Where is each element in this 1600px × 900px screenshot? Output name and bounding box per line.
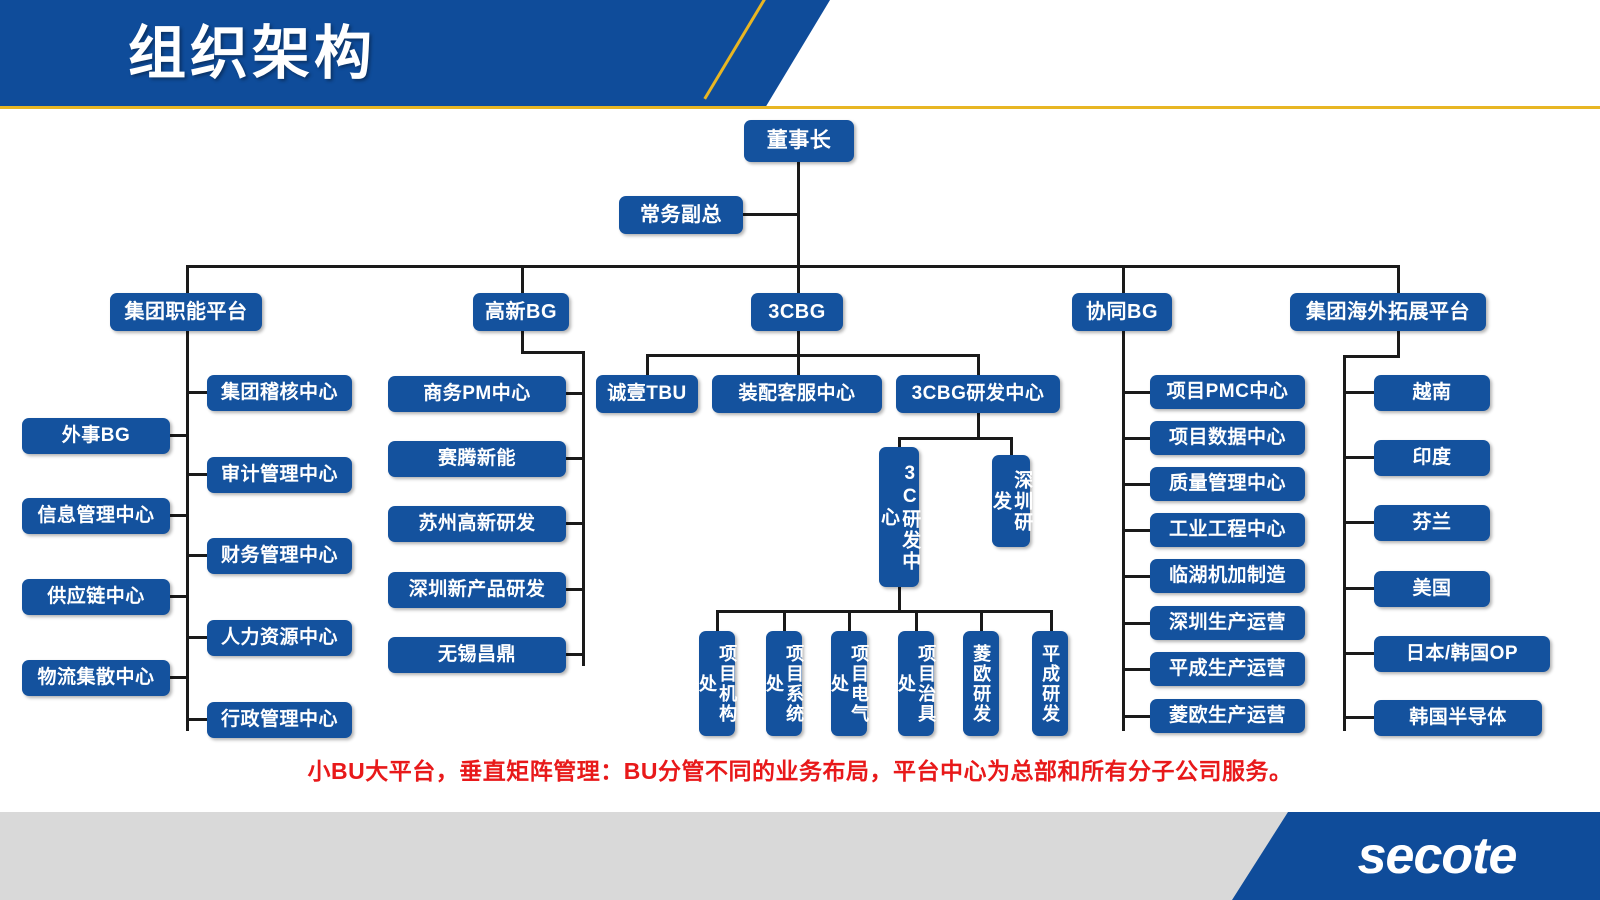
connector-b5-4 (1343, 587, 1377, 590)
node-project-pmc-center[interactable]: 项目PMC中心 (1150, 375, 1305, 409)
node-shenzhen-rd[interactable]: 深圳研发 (992, 455, 1030, 547)
footnote-caption: 小BU大平台，垂直矩阵管理：BU分管不同的业务布局，平台中心为总部和所有分子公司… (0, 752, 1600, 786)
node-group-audit-inspection-center[interactable]: 集团稽核中心 (207, 375, 352, 411)
connector-b3leaf-bus (716, 610, 1053, 613)
node-project-mechanism-dept[interactable]: 项目机构处 (699, 631, 735, 736)
connector-b3leaf-drop (898, 587, 901, 612)
node-japan-korea-op[interactable]: 日本/韩国OP (1374, 636, 1550, 672)
connector-b4-1 (1122, 391, 1152, 394)
node-chairman[interactable]: 董事长 (744, 120, 854, 162)
node-audit-management-center[interactable]: 审计管理中心 (207, 457, 352, 493)
node-project-data-center[interactable]: 项目数据中心 (1150, 421, 1305, 455)
node-wuxi-changding[interactable]: 无锡昌鼎 (388, 637, 566, 673)
node-lingou-production-operations[interactable]: 菱欧生产运营 (1150, 699, 1305, 733)
connector-main-bus (186, 265, 1398, 268)
page-title: 组织架构 (128, 10, 376, 98)
node-logistics-distribution-center[interactable]: 物流集散中心 (22, 660, 170, 696)
connector-b2-5 (564, 653, 585, 656)
node-human-resources-center[interactable]: 人力资源中心 (207, 620, 352, 656)
node-quality-management-center[interactable]: 质量管理中心 (1150, 467, 1305, 501)
node-finland[interactable]: 芬兰 (1374, 505, 1490, 541)
connector-r5 (186, 718, 209, 721)
branch-head-gaoxin-bg[interactable]: 高新BG (473, 293, 569, 331)
connector-b3leaf-d5 (980, 610, 983, 633)
connector-b2-jog (521, 351, 585, 354)
node-business-pm-center[interactable]: 商务PM中心 (388, 376, 566, 412)
connector-b3-d1 (646, 354, 649, 376)
node-administration-management-center[interactable]: 行政管理中心 (207, 702, 352, 738)
connector-r3 (186, 554, 209, 557)
node-project-system-dept[interactable]: 项目系统处 (766, 631, 802, 736)
connector-b3leaf-d4 (915, 610, 918, 633)
connector-b3leaf-d1 (716, 610, 719, 633)
connector-b3-d2 (797, 354, 800, 376)
connector-b2-2 (564, 457, 585, 460)
connector-b5-1 (1343, 391, 1377, 394)
node-3cbg-rd-center[interactable]: 3CBG研发中心 (896, 375, 1060, 413)
node-3c-rd-center[interactable]: 3C研发中心 (879, 447, 919, 587)
connector-l4 (170, 676, 188, 679)
node-executive-vp[interactable]: 常务副总 (619, 196, 743, 234)
connector-b5-2 (1343, 456, 1377, 459)
connector-r1 (186, 391, 209, 394)
connector-b4-8 (1122, 715, 1152, 718)
node-assembly-customer-service-center[interactable]: 装配客服中心 (712, 375, 882, 413)
node-industrial-engineering-center[interactable]: 工业工程中心 (1150, 513, 1305, 547)
node-project-electrical-dept[interactable]: 项目电气处 (831, 631, 867, 736)
node-pingcheng-production-operations[interactable]: 平成生产运营 (1150, 652, 1305, 686)
node-shenzhen-new-product-rd[interactable]: 深圳新产品研发 (388, 572, 566, 608)
connector-l3 (170, 595, 188, 598)
connector-b3-d3 (977, 354, 980, 376)
connector-b3-bus (646, 354, 979, 357)
node-shenzhen-production-operations[interactable]: 深圳生产运营 (1150, 606, 1305, 640)
connector-b5-drop (1397, 331, 1400, 357)
node-suzhou-gaoxin-rd[interactable]: 苏州高新研发 (388, 506, 566, 542)
node-project-fixture-dept[interactable]: 项目治具处 (898, 631, 934, 736)
connector-r2 (186, 473, 209, 476)
connector-b4-4 (1122, 529, 1152, 532)
node-foreign-affairs-bg[interactable]: 外事BG (22, 418, 170, 454)
connector-b5-3 (1343, 521, 1377, 524)
node-chengyi-tbu[interactable]: 诚壹TBU (596, 375, 698, 413)
connector-drop-1 (186, 265, 189, 293)
connector-spine-branch2 (582, 351, 585, 666)
branch-head-collaboration-bg[interactable]: 协同BG (1072, 293, 1172, 331)
branch-head-overseas-expansion-platform[interactable]: 集团海外拓展平台 (1290, 293, 1486, 331)
slide-canvas: 组织架构 董事长 常务副总 集团职能平台 外事BG 信息管理中心 供应链中心 物… (0, 0, 1600, 900)
connector-spine-branch5 (1343, 355, 1346, 731)
node-lingou-rd[interactable]: 菱欧研发 (963, 631, 999, 736)
connector-b2-3 (564, 522, 585, 525)
node-pingcheng-rd[interactable]: 平成研发 (1032, 631, 1068, 736)
connector-drop-2 (521, 265, 524, 293)
connector-drop-4 (1122, 265, 1125, 293)
connector-b3leaf-d3 (848, 610, 851, 633)
node-linhu-machining-manufacturing[interactable]: 临湖机加制造 (1150, 559, 1305, 593)
connector-b2-4 (564, 588, 585, 591)
connector-b5-jog (1343, 355, 1400, 358)
node-information-management-center[interactable]: 信息管理中心 (22, 498, 170, 534)
connector-drop-5 (1397, 265, 1400, 293)
secote-logo: secote (1322, 826, 1552, 886)
connector-b5-5 (1343, 652, 1377, 655)
connector-b4-6 (1122, 622, 1152, 625)
connector-b2-1 (564, 392, 585, 395)
connector-b3rd-drop (977, 413, 980, 439)
connector-b3-drop (797, 331, 800, 356)
branch-head-group-function-platform[interactable]: 集团职能平台 (110, 293, 262, 331)
connector-b4-3 (1122, 483, 1152, 486)
node-vietnam[interactable]: 越南 (1374, 375, 1490, 411)
node-finance-management-center[interactable]: 财务管理中心 (207, 538, 352, 574)
connector-b4-7 (1122, 668, 1152, 671)
node-india[interactable]: 印度 (1374, 440, 1490, 476)
connector-b3leaf-d2 (783, 610, 786, 633)
connector-b4-2 (1122, 437, 1152, 440)
connector-b3leaf-d6 (1050, 610, 1053, 633)
connector-b4-5 (1122, 575, 1152, 578)
connector-r4 (186, 636, 209, 639)
connector-l1 (170, 434, 188, 437)
node-korea-semiconductor[interactable]: 韩国半导体 (1374, 700, 1542, 736)
connector-vp-stub (743, 213, 799, 216)
connector-drop-3 (797, 265, 800, 293)
node-saiteng-new-energy[interactable]: 赛腾新能 (388, 441, 566, 477)
connector-b2-drop (521, 331, 524, 353)
connector-l2 (170, 514, 188, 517)
node-usa[interactable]: 美国 (1374, 571, 1490, 607)
header-banner (0, 0, 830, 108)
connector-b5-6 (1343, 716, 1377, 719)
node-supply-chain-center[interactable]: 供应链中心 (22, 579, 170, 615)
connector-b3rd-bus (898, 437, 1013, 440)
branch-head-3cbg[interactable]: 3CBG (751, 293, 843, 331)
header-accent-line (0, 106, 1600, 109)
